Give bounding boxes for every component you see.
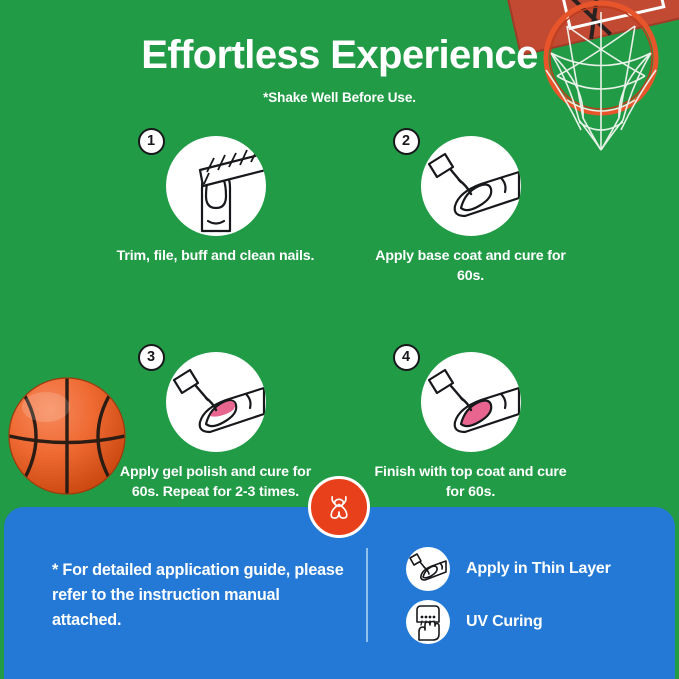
step-3-number: 3 [138,344,165,371]
uv-lamp-icon [406,600,450,644]
step-4-caption: Finish with top coat and cure for 60s. [363,462,578,502]
product-infographic: Effortless Experience *Shake Well Before… [0,0,679,679]
step-3: 3 [108,344,323,502]
steps-row-1: 1 [108,128,578,286]
brand-loops-logo-icon [322,490,356,524]
nail-file-icon [166,136,266,236]
feature-thin-layer-label: Apply in Thin Layer [466,560,611,578]
thin-layer-brush-icon [406,547,450,591]
step-4: 4 [363,344,578,502]
step-4-number: 4 [393,344,420,371]
feature-thin-layer: Apply in Thin Layer [406,547,611,591]
step-2-media: 2 [363,128,578,236]
step-1-media: 1 [108,128,323,236]
base-coat-brush-icon [421,136,521,236]
steps-grid: 1 [108,128,578,503]
step-2-caption: Apply base coat and cure for 60s. [363,246,578,286]
step-2: 2 [363,128,578,286]
uv-lamp-glyph [406,600,450,644]
step-4-media: 4 [363,344,578,452]
footer-feature-list: Apply in Thin Layer [406,547,611,653]
step-3-illustration [166,352,266,452]
step-1-caption: Trim, file, buff and clean nails. [108,246,323,266]
thin-layer-brush-glyph [406,547,450,591]
page-subtitle: *Shake Well Before Use. [0,90,679,105]
feature-uv-curing: UV Curing [406,600,611,644]
footer-divider [366,548,368,642]
step-2-illustration [421,136,521,236]
step-3-media: 3 [108,344,323,452]
step-2-number: 2 [393,128,420,155]
step-1: 1 [108,128,323,286]
step-1-illustration [166,136,266,236]
footer-note: * For detailed application guide, please… [52,558,352,633]
brand-badge [308,476,370,538]
step-3-caption: Apply gel polish and cure for 60s. Repea… [108,462,323,502]
gel-polish-brush-icon [166,352,266,452]
top-coat-brush-icon [421,352,521,452]
feature-uv-curing-label: UV Curing [466,613,542,631]
step-4-illustration [421,352,521,452]
step-1-number: 1 [138,128,165,155]
page-title: Effortless Experience [0,33,679,77]
